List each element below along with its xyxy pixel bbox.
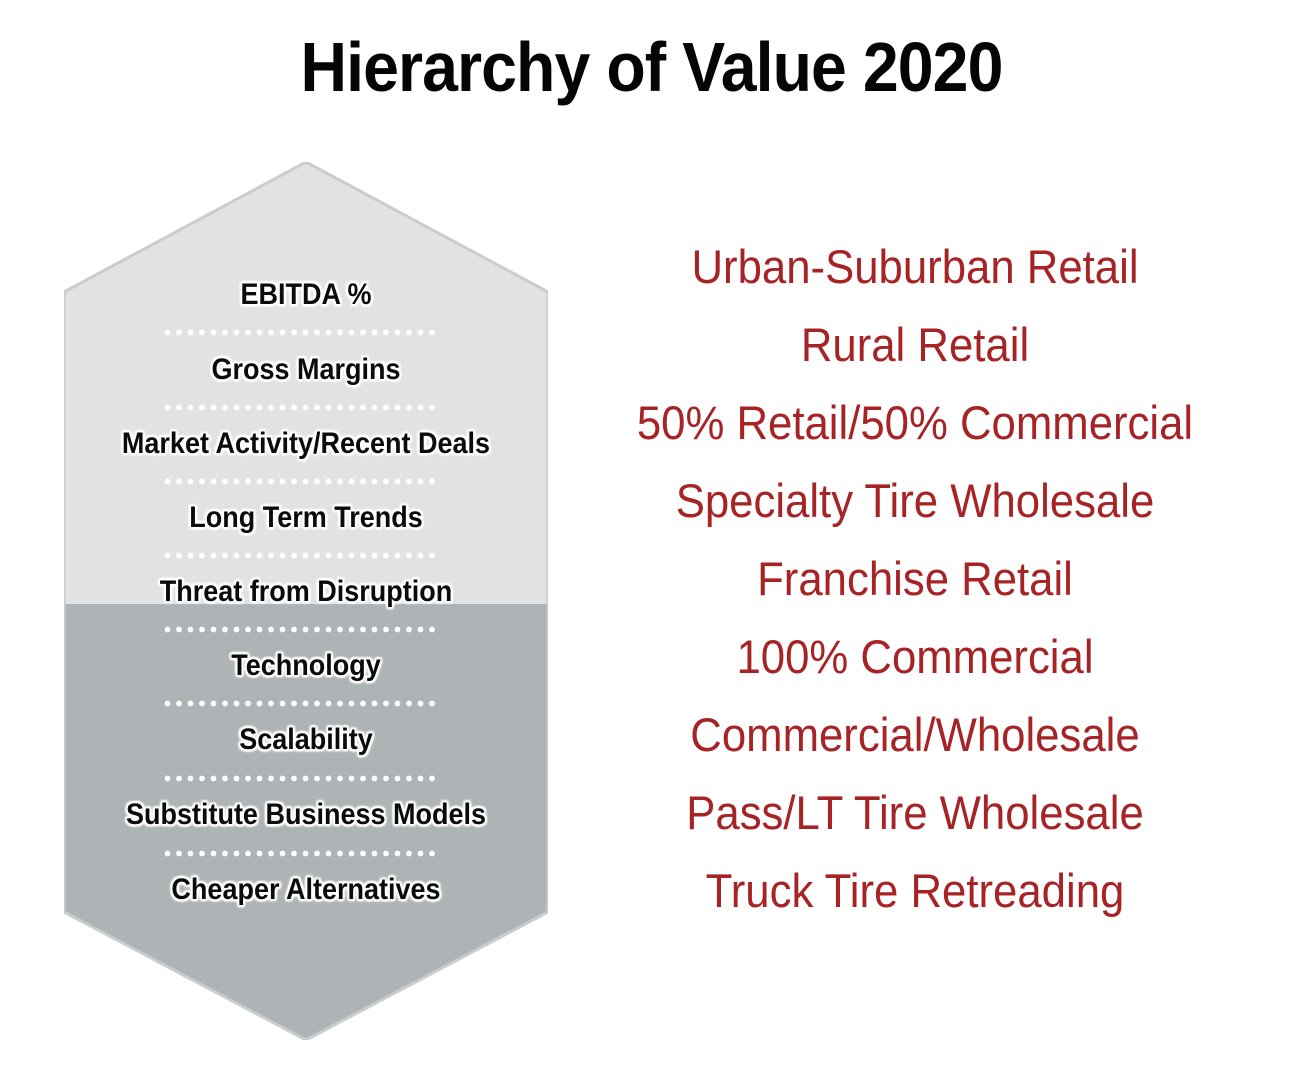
segment-item-truck-tire-retreading: Truck Tire Retreading (594, 852, 1236, 930)
funnel-row-ebitda: EBITDA % (74, 278, 538, 312)
segment-item-50-retail-50-commercial: 50% Retail/50% Commercial (594, 384, 1236, 462)
funnel-row-market-activity: Market Activity/Recent Deals (74, 427, 538, 461)
funnel-row-gross-margins: Gross Margins (74, 353, 538, 387)
funnel-divider-1 (164, 329, 440, 336)
funnel-label-stack: EBITDA % Gross Margins Market Activity/R… (48, 162, 564, 1040)
funnel-divider-4 (164, 552, 440, 559)
business-segment-list: Urban-Suburban Retail Rural Retail 50% R… (570, 228, 1260, 930)
funnel-row-technology: Technology (74, 649, 538, 683)
hierarchy-funnel: EBITDA % Gross Margins Market Activity/R… (64, 162, 548, 1040)
segment-item-franchise-retail: Franchise Retail (594, 540, 1236, 618)
funnel-row-cheaper-alternatives: Cheaper Alternatives (74, 873, 538, 907)
funnel-row-threat-from-disruption: Threat from Disruption (74, 575, 538, 609)
funnel-row-long-term-trends: Long Term Trends (74, 501, 538, 535)
funnel-divider-8 (164, 850, 440, 857)
page-title: Hierarchy of Value 2020 (52, 28, 1251, 106)
funnel-divider-5 (164, 626, 440, 633)
funnel-divider-7 (164, 775, 440, 782)
segment-item-urban-suburban-retail: Urban-Suburban Retail (594, 228, 1236, 306)
segment-item-commercial-wholesale: Commercial/Wholesale (594, 696, 1236, 774)
segment-item-pass-lt-tire-wholesale: Pass/LT Tire Wholesale (594, 774, 1236, 852)
segment-item-rural-retail: Rural Retail (594, 306, 1236, 384)
funnel-row-substitute-business-models: Substitute Business Models (74, 798, 538, 832)
segment-item-specialty-tire-wholesale: Specialty Tire Wholesale (594, 462, 1236, 540)
funnel-row-scalability: Scalability (74, 723, 538, 757)
segment-item-100-commercial: 100% Commercial (594, 618, 1236, 696)
funnel-divider-3 (164, 478, 440, 485)
funnel-divider-6 (164, 700, 440, 707)
funnel-divider-2 (164, 404, 440, 411)
slide-canvas: Hierarchy of Value 2020 EBITDA % Gross M… (0, 0, 1303, 1091)
